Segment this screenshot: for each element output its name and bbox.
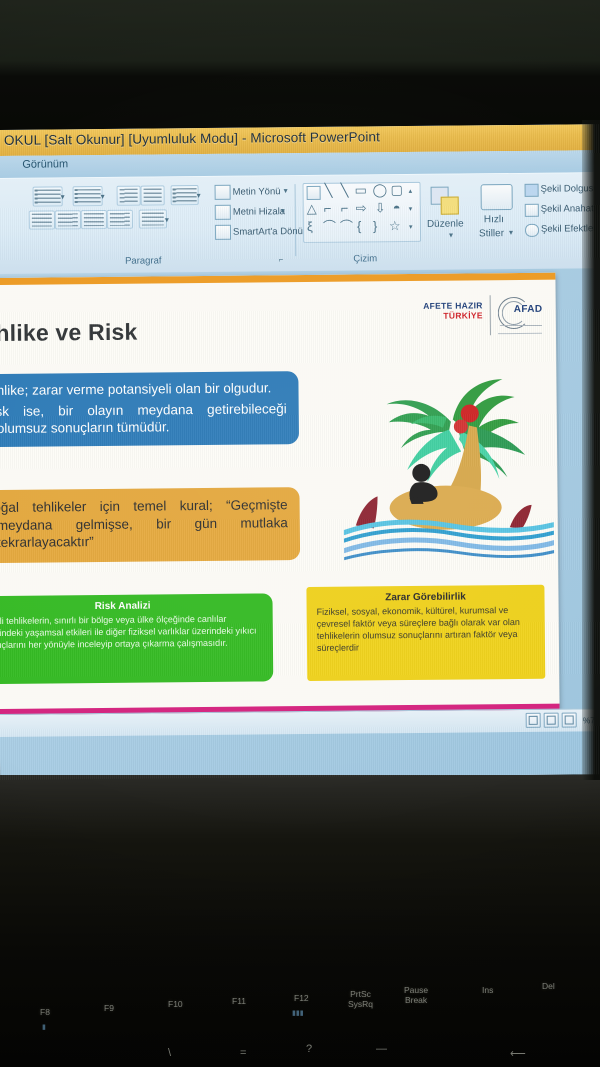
smartart-icon[interactable] [215,225,231,240]
key-f10[interactable]: F10 [168,999,183,1009]
definition-risk: Risk ise, bir olayın meydana getirebilec… [0,402,287,438]
key-pause-label: Pause [404,985,428,995]
risk-analizi-title: Risk Analizi [0,599,264,613]
key-del[interactable]: Del [542,981,555,991]
desert-island-illustration [342,369,554,571]
definition-tehlike: Tehlike; zarar verme potansiyeli olan bi… [0,380,287,399]
key-f12-secondary: ▮▮▮ [292,1009,304,1017]
arrange-icon-front[interactable] [441,197,459,215]
decrease-indent-button[interactable] [117,186,141,206]
quick-styles-dropdown-icon[interactable]: ▾ [509,226,513,239]
align-text-label[interactable]: Metni Hizala [233,206,285,218]
afad-logo-underline [498,333,542,334]
shark-fin-icon [510,505,532,529]
increase-indent-button[interactable] [141,185,165,205]
coconut-icon [454,419,468,433]
afad-logo-line1: AFETE HAZIR [418,300,483,311]
moon-shape-icon[interactable]: ◓ [393,201,401,214]
afad-logo-mark: AFAD [498,295,540,339]
risk-analizi-body: Belirli tehlikelerin, sınırlı bir bölge … [0,613,264,652]
bullets-dropdown-icon[interactable]: ▾ [61,190,65,203]
align-center-button[interactable] [55,210,81,229]
bullets-button[interactable] [33,186,63,206]
quick-styles-label-2[interactable]: Stiller [479,228,504,239]
risk-analizi-box[interactable]: Risk Analizi Belirli tehlikelerin, sınır… [0,593,273,684]
shape-fill-icon[interactable] [525,184,539,197]
key-symbol-equals[interactable]: = [240,1047,246,1059]
quick-styles-label-1[interactable]: Hızlı [484,214,504,225]
shapes-scroll-down-icon[interactable]: ▾ [409,203,413,216]
arc-shape-icon[interactable]: ⌒ [340,220,353,233]
zarar-gorebilirlik-body: Fiziksel, sosyal, ekonomik, kültürel, ku… [317,605,535,655]
logo-divider [490,295,491,335]
normal-view-icon[interactable] [526,713,541,728]
text-direction-label[interactable]: Metin Yönü [233,186,281,197]
line-spacing-button[interactable] [171,185,199,205]
afad-logo: AFETE HAZIR TÜRKİYE AFAD [418,295,540,342]
afad-logo-line2: TÜRKİYE [418,310,483,321]
key-prtsc[interactable]: PrtSc SysRq [348,989,373,1009]
left-brace-icon[interactable]: { [357,219,361,232]
afad-wordmark: AFAD [514,304,543,315]
shape-effects-icon[interactable] [525,224,539,237]
text-direction-icon[interactable] [215,185,231,200]
elbow-arrow-icon[interactable]: ⌐ [341,202,349,215]
palm-fronds-icon [386,379,525,490]
key-backspace-arrow-icon[interactable]: ⟵ [510,1047,526,1060]
freeform-shape-icon[interactable]: ξ [307,220,313,233]
shapes-scroll-up-icon[interactable]: ▴ [409,185,413,198]
shape-outline-icon[interactable] [525,204,539,217]
elbow-connector-icon[interactable]: ⌐ [324,202,332,215]
zarar-gorebilirlik-title: Zarar Görebilirlik [316,591,534,604]
zarar-gorebilirlik-box[interactable]: Zarar Görebilirlik Fiziksel, sosyal, eko… [306,585,545,681]
key-symbol-dash[interactable]: — [376,1043,387,1055]
numbering-button[interactable] [73,186,103,206]
ribbon-separator [295,184,297,256]
definition-box-blue[interactable]: Tehlike; zarar verme potansiyeli olan bi… [0,371,299,448]
key-f8-secondary: ▮ [42,1023,46,1031]
ribbon-group-drawing: ╲ ╲ ▭ ◯ ▢ ▴ △ ⌐ ⌐ ⇨ ⇩ ◓ ▾ ξ ⌒ ⌒ { [300,177,600,266]
key-ins[interactable]: Ins [482,985,493,995]
key-f12[interactable]: F12 [294,993,309,1003]
slide-sorter-icon[interactable] [544,713,559,728]
slide-top-accent-bar [0,273,555,285]
tab-gorunum[interactable]: Görünüm [22,158,68,170]
star-shape-icon[interactable]: ☆ [389,219,401,232]
page-title[interactable]: Tehlike ve Risk [0,319,138,348]
rectangle-shape-icon[interactable]: ▭ [355,183,367,196]
rule-box-orange[interactable]: Doğal tehlikeler için temel kural; “Geçm… [0,487,300,563]
rounded-rect-shape-icon[interactable]: ▢ [391,183,403,196]
slide-editing-area: Tehlike ve Risk AFETE HAZIR TÜRKİYE AFAD [0,268,600,780]
laptop-keyboard: F8 ▮ F9 F10 F11 F12 ▮▮▮ PrtSc SysRq Paus… [0,985,600,1067]
oval-shape-icon[interactable]: ◯ [373,183,388,196]
right-brace-icon[interactable]: } [373,219,377,232]
columns-dropdown-icon[interactable]: ▾ [165,213,169,226]
triangle-shape-icon[interactable]: △ [307,202,317,215]
ribbon-group-label-drawing: Çizim [215,252,515,266]
reading-view-icon[interactable] [562,712,577,727]
coconut-icon [461,404,479,422]
laptop-screen: ZIR OKUL [Salt Okunur] [Uyumluluk Modu] … [0,124,600,780]
align-text-icon[interactable] [215,205,231,220]
island-svg [342,369,554,571]
laptop-bezel-top [0,0,600,132]
key-prtsc-label: PrtSc [348,989,373,999]
window-title: ZIR OKUL [Salt Okunur] [Uyumluluk Modu] … [0,129,380,148]
right-arrow-shape-icon[interactable]: ⇨ [356,201,367,214]
key-f8[interactable]: F8 [40,1007,50,1017]
arrange-label[interactable]: Düzenle [427,218,464,229]
curve-shape-icon[interactable]: ⌒ [323,220,336,233]
key-pause[interactable]: Pause Break [404,985,428,1005]
key-pause-sublabel: Break [404,995,428,1005]
text-direction-dropdown-icon[interactable]: ▾ [284,184,288,197]
align-text-dropdown-icon[interactable]: ▾ [281,204,285,217]
shapes-more-icon[interactable]: ▾ [409,221,413,234]
laptop-bezel-right [582,120,600,780]
quick-styles-icon[interactable] [481,184,513,210]
key-prtsc-sublabel: SysRq [348,999,373,1009]
arrow-shape-icon[interactable]: ╲ [341,184,349,197]
key-symbol-backslash[interactable]: \ [168,1047,171,1059]
textbox-shape-icon[interactable] [307,186,321,200]
key-f9[interactable]: F9 [104,1003,114,1013]
ribbon: Görünüm ▾ ▾ ▾ [0,150,600,274]
align-left-button[interactable] [29,210,55,229]
key-f11[interactable]: F11 [232,996,246,1006]
down-arrow-shape-icon[interactable]: ⇩ [375,201,386,214]
line-spacing-dropdown-icon[interactable]: ▾ [197,189,201,202]
ribbon-body: ▾ ▾ ▾ ▾ Metin Yönü ▾ [0,172,600,275]
align-right-button[interactable] [81,210,107,229]
key-symbol-question[interactable]: ? [306,1043,312,1055]
line-shape-icon[interactable]: ╲ [325,184,333,197]
slide-canvas[interactable]: Tehlike ve Risk AFETE HAZIR TÜRKİYE AFAD [0,273,560,718]
columns-button[interactable] [139,209,167,228]
photograph-of-laptop-screen: ZIR OKUL [Salt Okunur] [Uyumluluk Modu] … [0,0,600,1067]
justify-button[interactable] [107,210,133,229]
afad-logo-subtext [500,325,542,327]
arrange-dropdown-icon[interactable]: ▾ [449,229,453,242]
afad-logo-text: AFETE HAZIR TÜRKİYE [418,295,483,321]
numbering-dropdown-icon[interactable]: ▾ [101,190,105,203]
rule-text: Doğal tehlikeler için temel kural; “Geçm… [0,496,288,552]
